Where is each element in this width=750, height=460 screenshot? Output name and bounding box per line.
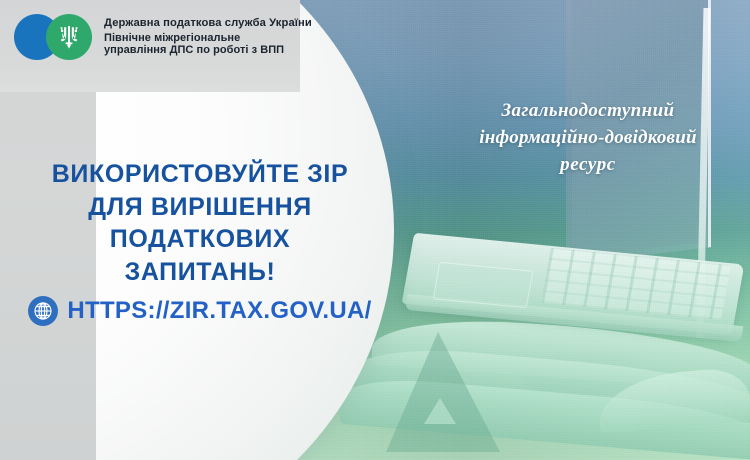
caption-line-1: Загальнодоступний (452, 98, 724, 125)
globe-icon (28, 296, 58, 326)
caption-line-3: ресурс (452, 152, 724, 179)
org-line-1: Державна податкова служба України (104, 17, 312, 30)
organization-name: Державна податкова служба України Північ… (104, 17, 312, 56)
website-url-row[interactable]: HTTPS://ZIR.TAX.GOV.UA/ (0, 296, 400, 326)
website-url-text[interactable]: HTTPS://ZIR.TAX.GOV.UA/ (67, 297, 371, 325)
org-line-3: управління ДПС по роботі з ВПП (104, 44, 312, 56)
headline-block: ВИКОРИСТОВУЙТЕ ЗІР ДЛЯ ВИРІШЕННЯ ПОДАТКО… (0, 158, 400, 288)
ukraine-trident-icon (46, 14, 92, 60)
dps-logo (14, 14, 92, 60)
resource-caption: Загальнодоступний інформаційно-довідкови… (452, 98, 724, 179)
caption-line-2: інформаційно-довідковий (452, 125, 724, 152)
org-line-2: Північне міжрегіональне (104, 32, 312, 44)
headline-line-4: ЗАПИТАНЬ! (0, 256, 400, 289)
organization-header: Державна податкова служба України Північ… (14, 14, 312, 60)
headline-line-2: ДЛЯ ВИРІШЕННЯ (0, 191, 400, 224)
headline-line-3: ПОДАТКОВИХ (0, 223, 400, 256)
zir-promo-banner: Державна податкова служба України Північ… (0, 0, 750, 460)
headline-line-1: ВИКОРИСТОВУЙТЕ ЗІР (0, 158, 400, 191)
